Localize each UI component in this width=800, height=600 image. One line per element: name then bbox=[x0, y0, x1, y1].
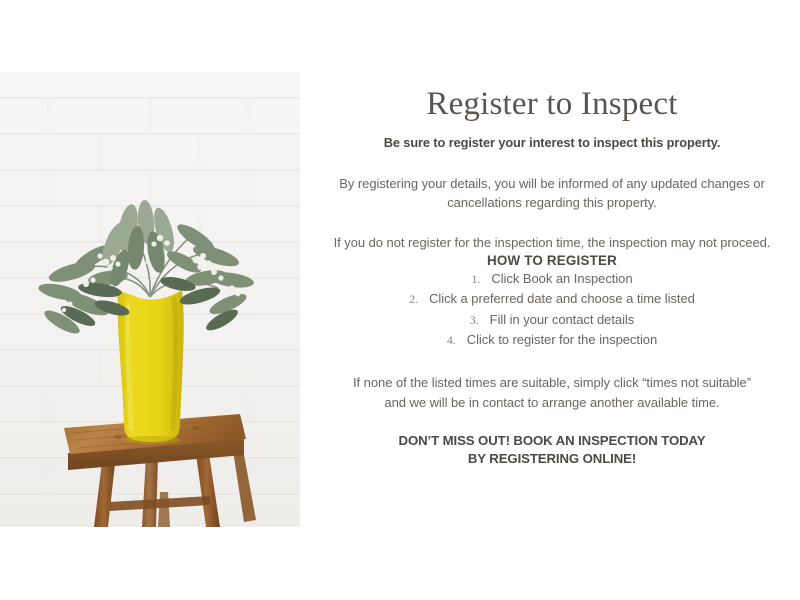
step-number: 2. bbox=[409, 292, 429, 306]
paragraph-arrange-another-time: and we will be in contact to arrange ano… bbox=[318, 393, 786, 413]
step-label: Click Book an Inspection bbox=[491, 271, 632, 286]
paragraph-registering-details: By registering your details, you will be… bbox=[318, 174, 786, 214]
step-number: 4. bbox=[447, 333, 467, 347]
subtitle: Be sure to register your interest to ins… bbox=[318, 135, 786, 152]
page-title: Register to Inspect bbox=[318, 86, 786, 123]
how-to-register-heading: HOW TO REGISTER bbox=[318, 253, 786, 268]
closing-line-1: DON’T MISS OUT! BOOK AN INSPECTION TODAY bbox=[399, 433, 706, 448]
list-item: 2.Click a preferred date and choose a ti… bbox=[318, 289, 786, 310]
step-number: 3. bbox=[470, 313, 490, 327]
paragraph-times-not-suitable: If none of the listed times are suitable… bbox=[318, 373, 786, 393]
inspection-info-panel: Register to Inspect Be sure to register … bbox=[318, 86, 786, 468]
list-item: 1.Click Book an Inspection bbox=[318, 269, 786, 290]
step-number: 1. bbox=[471, 272, 491, 286]
how-to-register-steps: 1.Click Book an Inspection 2.Click a pre… bbox=[318, 269, 786, 351]
closing-line-2: BY REGISTERING ONLINE! bbox=[468, 451, 636, 466]
property-photo bbox=[0, 72, 300, 527]
closing-call-to-action: DON’T MISS OUT! BOOK AN INSPECTION TODAY… bbox=[318, 432, 786, 468]
step-label: Fill in your contact details bbox=[490, 312, 635, 327]
step-label: Click to register for the inspection bbox=[467, 332, 657, 347]
list-item: 4.Click to register for the inspection bbox=[318, 330, 786, 351]
paragraph-no-register: If you do not register for the inspectio… bbox=[318, 233, 786, 253]
photo-illustration bbox=[0, 72, 300, 527]
step-label: Click a preferred date and choose a time… bbox=[429, 291, 695, 306]
list-item: 3.Fill in your contact details bbox=[318, 310, 786, 331]
